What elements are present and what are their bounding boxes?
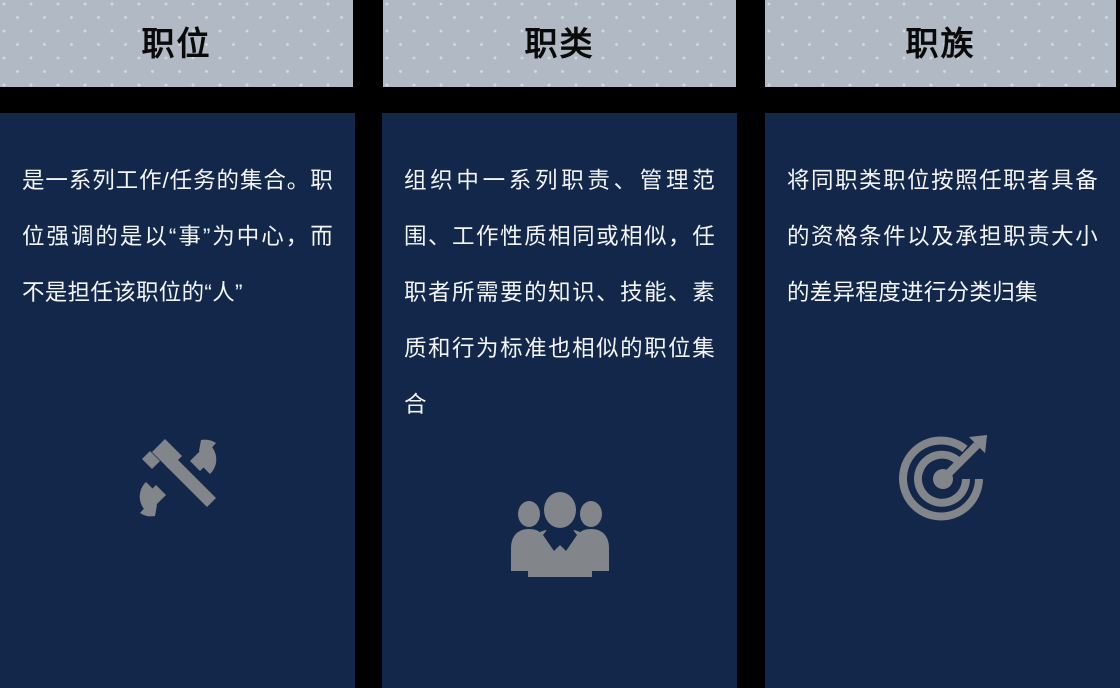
target-bullseye-arrow-icon [893,429,993,529]
card-icon-area [765,321,1120,688]
people-group-icon [510,485,610,585]
column-header-zhilei: 职类 [383,0,736,87]
card-description: 将同职类职位按照任职者具备的资格条件以及承担职责大小的差异程度进行分类归集 [787,153,1098,321]
concept-card-zhizu: 将同职类职位按照任职者具备的资格条件以及承担职责大小的差异程度进行分类归集 [765,113,1120,688]
card-description: 组织中一系列职责、管理范围、工作性质相同或相似，任职者所需要的知识、技能、素质和… [404,153,715,433]
column-header-zhiwei: 职位 [0,0,353,87]
concept-card-zhiwei: 是一系列工作/任务的集合。职位强调的是以“事”为中心，而不是担任该职位的“人” [0,113,355,688]
three-column-concept-board: 职位 职类 职族 是一系列工作/任务的集合。职位强调的是以“事”为中心，而不是担… [0,0,1120,688]
column-header-label: 职位 [142,27,212,60]
column-header-label: 职类 [525,27,595,60]
card-description: 是一系列工作/任务的集合。职位强调的是以“事”为中心，而不是担任该职位的“人” [22,153,333,321]
hammer-and-wrench-icon [128,428,228,528]
column-header-label: 职族 [906,27,976,60]
card-body: 是一系列工作/任务的集合。职位强调的是以“事”为中心，而不是担任该职位的“人” [0,113,355,321]
card-icon-area [382,433,737,688]
column-header-zhizu: 职族 [765,0,1116,87]
card-body: 组织中一系列职责、管理范围、工作性质相同或相似，任职者所需要的知识、技能、素质和… [382,113,737,433]
card-body: 将同职类职位按照任职者具备的资格条件以及承担职责大小的差异程度进行分类归集 [765,113,1120,321]
card-icon-area [0,321,355,688]
concept-card-zhilei: 组织中一系列职责、管理范围、工作性质相同或相似，任职者所需要的知识、技能、素质和… [382,113,737,688]
